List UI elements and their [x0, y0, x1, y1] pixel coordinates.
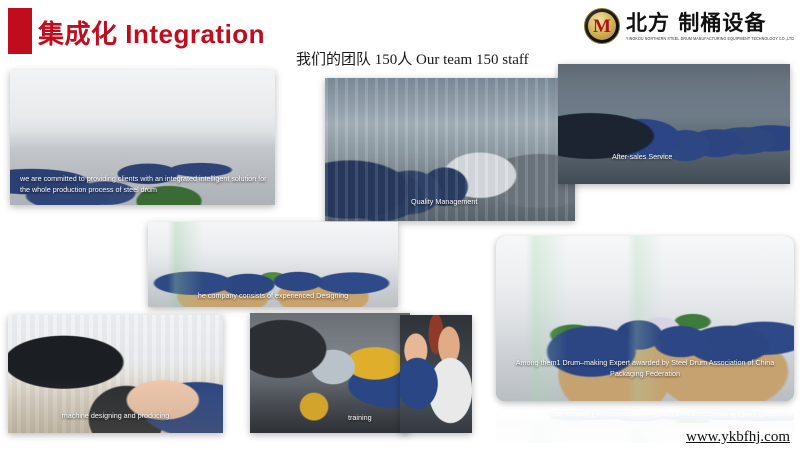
photo-open-office: Among them1 Drum–making Expert awarded b…	[496, 236, 794, 401]
title-accent-bar	[8, 8, 32, 54]
logo-emblem-icon: M	[584, 8, 620, 44]
photo-caption-designing-team: he company consists of experienced Desig…	[148, 291, 398, 301]
photo-caption-open-office: Among them1 Drum–making Expert awarded b…	[496, 358, 794, 379]
photo-caption-training: training	[250, 413, 410, 423]
website-link[interactable]: www.ykbfhj.com	[686, 429, 790, 446]
company-logo: M 北方 制桶设备 YINGKOU NORTHERN STEEL DRUM MA…	[584, 4, 794, 48]
logo-monogram: M	[593, 17, 611, 36]
logo-brand-english: YINGKOU NORTHERN STEEL DRUM MANUFACTURIN…	[626, 36, 794, 41]
photo-handshake	[400, 315, 472, 433]
photo-machine-designing: machine designing and producing	[8, 315, 223, 433]
photo-image-handshake	[400, 315, 472, 433]
page-title: 集成化 Integration	[38, 14, 265, 51]
photo-office-meeting: we are committed to providing clients wi…	[10, 70, 275, 205]
slide-root: 集成化 Integration 我们的团队 150人 Our team 150 …	[0, 0, 800, 450]
photo-image-after-sales-service	[558, 64, 790, 184]
photo-after-sales-service: After-sales Service	[558, 64, 790, 184]
photo-training: training	[250, 313, 410, 433]
photo-caption-machine-designing: machine designing and producing	[8, 411, 223, 421]
photo-caption-after-sales-service: After-sales Service	[558, 152, 790, 162]
photo-caption-quality-management: Quality Management	[325, 197, 575, 207]
logo-wordmark: 北方 制桶设备 YINGKOU NORTHERN STEEL DRUM MANU…	[626, 12, 794, 40]
photo-designing-team: he company consists of experienced Desig…	[148, 222, 398, 307]
logo-brand-chinese: 北方 制桶设备	[626, 12, 794, 34]
photo-caption-open-office-mirror: Among them1 Drum–making Expert awarded b…	[496, 401, 794, 419]
photo-quality-management: Quality Management	[325, 78, 575, 221]
page-subtitle: 我们的团队 150人 Our team 150 staff	[296, 48, 529, 69]
photo-caption-office-meeting: we are committed to providing clients wi…	[10, 174, 275, 195]
